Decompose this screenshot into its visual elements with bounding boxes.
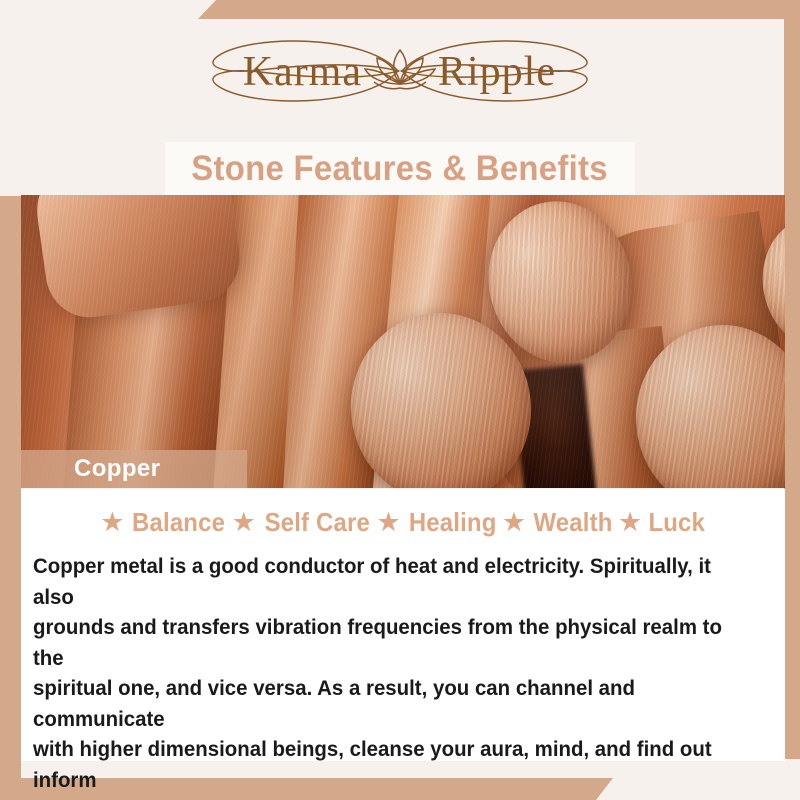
- brand-name-right: Ripple: [438, 49, 556, 95]
- benefits-list: ★ Balance ★ Self Care ★ Healing ★ Wealth…: [21, 507, 785, 538]
- benefit-label: Healing: [408, 507, 496, 538]
- benefit-item-self-care: ★ Self Care: [230, 507, 375, 538]
- description-text: Copper metal is a good conductor of heat…: [33, 551, 744, 800]
- star-icon: ★: [376, 509, 400, 536]
- hero-image-copper-rods: [21, 195, 785, 488]
- title-banner: Stone Features & Benefits: [165, 142, 635, 195]
- left-accent-bar: [0, 196, 21, 780]
- description-card: ★ Balance ★ Self Care ★ Healing ★ Wealth…: [21, 489, 785, 761]
- product-info-poster: Karma Ripple Stone Features & Benefits: [0, 0, 800, 800]
- brand-logo: Karma Ripple: [0, 28, 800, 114]
- benefit-label: Self Care: [264, 507, 369, 538]
- star-icon: ★: [232, 509, 256, 536]
- benefit-label: Wealth: [534, 507, 613, 538]
- benefit-label: Luck: [649, 507, 706, 538]
- benefit-item-balance: ★ Balance: [98, 507, 229, 538]
- brand-logo-graphic: Karma Ripple: [130, 28, 670, 114]
- stone-name-label: Copper: [74, 455, 160, 483]
- stone-name-badge: Copper: [21, 450, 247, 488]
- page-title: Stone Features & Benefits: [192, 149, 609, 189]
- brand-name-left: Karma: [243, 49, 362, 95]
- benefit-label: Balance: [132, 507, 225, 538]
- star-icon: ★: [100, 509, 124, 536]
- star-icon: ★: [618, 509, 642, 536]
- benefit-item-wealth: ★ Wealth: [500, 507, 616, 538]
- top-accent-bar: [0, 0, 800, 19]
- right-accent-bar: [784, 19, 800, 759]
- benefit-item-healing: ★ Healing: [374, 507, 500, 538]
- star-icon: ★: [502, 509, 526, 536]
- benefit-item-luck: ★ Luck: [616, 507, 708, 538]
